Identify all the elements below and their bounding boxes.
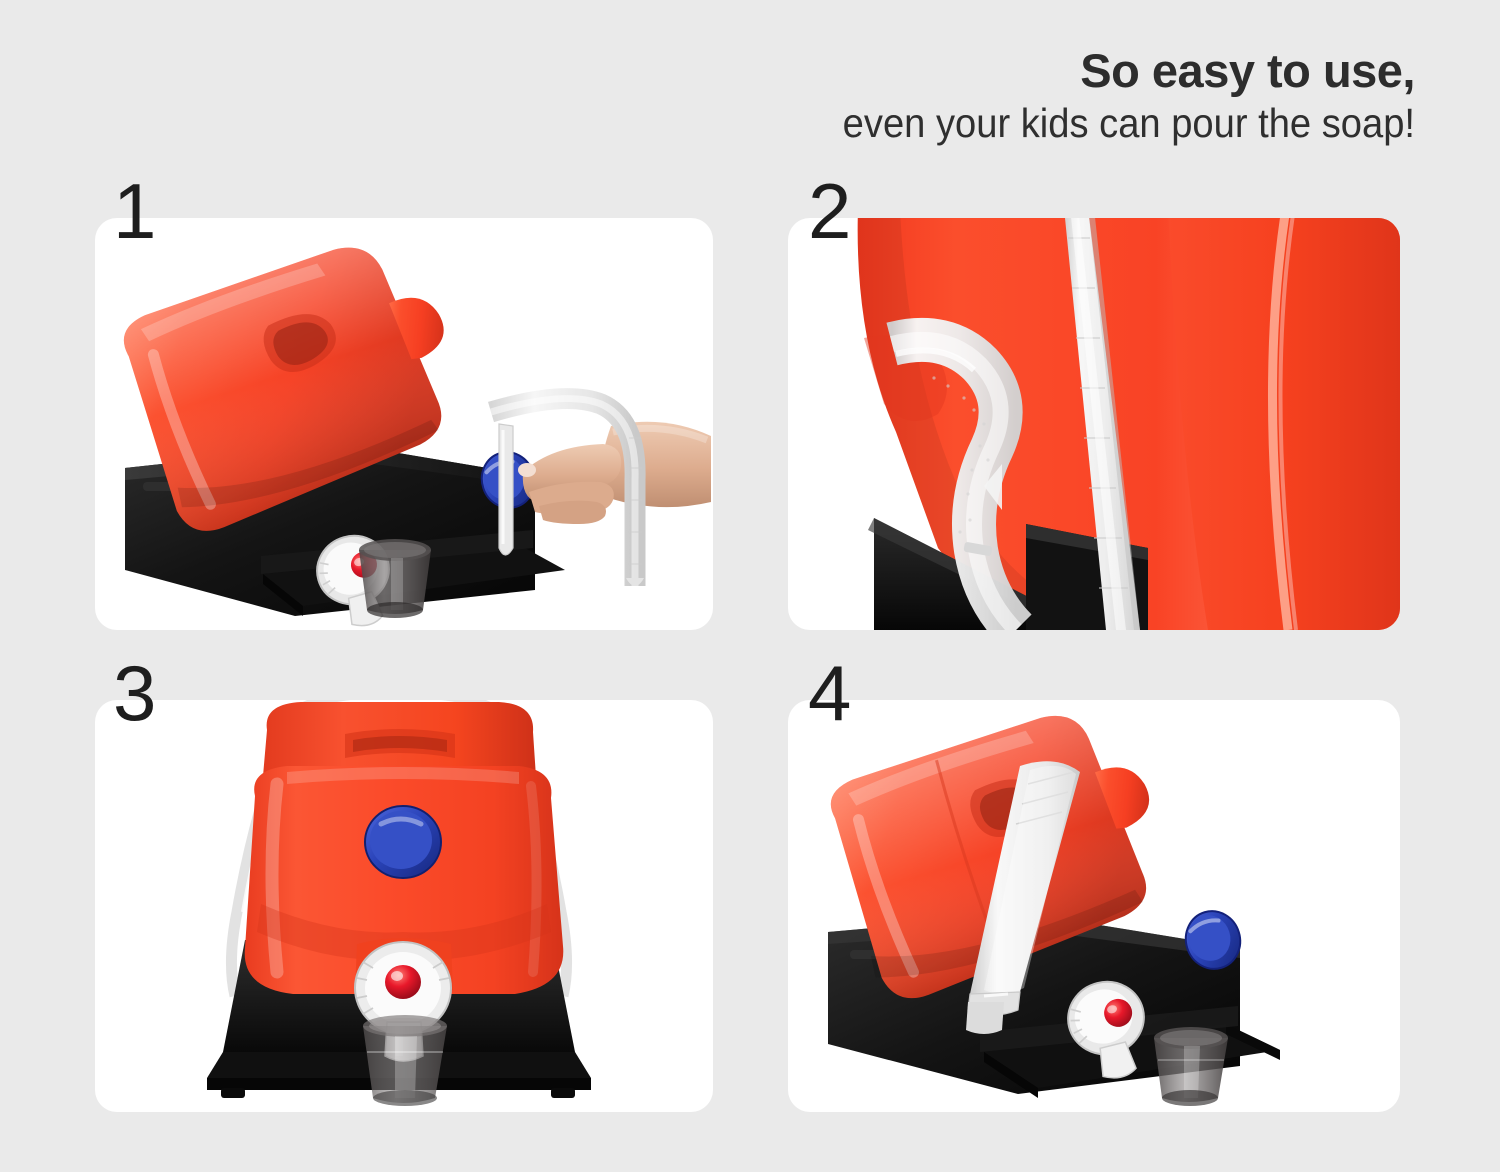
- step-number-3: 3: [113, 654, 156, 732]
- step-card-3: [95, 700, 713, 1112]
- step-number-2: 2: [808, 172, 851, 250]
- headline-block: So easy to use, even your kids can pour …: [515, 46, 1415, 149]
- step-card-4: [788, 700, 1400, 1112]
- step-card-2: [788, 218, 1400, 630]
- step-2-illustration: [788, 218, 1400, 630]
- page-title: So easy to use,: [515, 46, 1415, 95]
- step-number-4: 4: [808, 654, 851, 732]
- measuring-cup: [359, 539, 431, 618]
- measuring-cup: [363, 1015, 447, 1106]
- step-1-illustration: [95, 218, 713, 630]
- page-subtitle: even your kids can pour the soap!: [578, 99, 1415, 148]
- blue-cap: [365, 806, 441, 878]
- step-4-illustration: [788, 700, 1400, 1112]
- hand: [518, 422, 711, 524]
- red-spigot-button: [385, 965, 421, 999]
- step-3-illustration: [95, 700, 713, 1112]
- step-card-1: [95, 218, 713, 630]
- measuring-cup: [1154, 1027, 1228, 1106]
- step-number-1: 1: [113, 172, 156, 250]
